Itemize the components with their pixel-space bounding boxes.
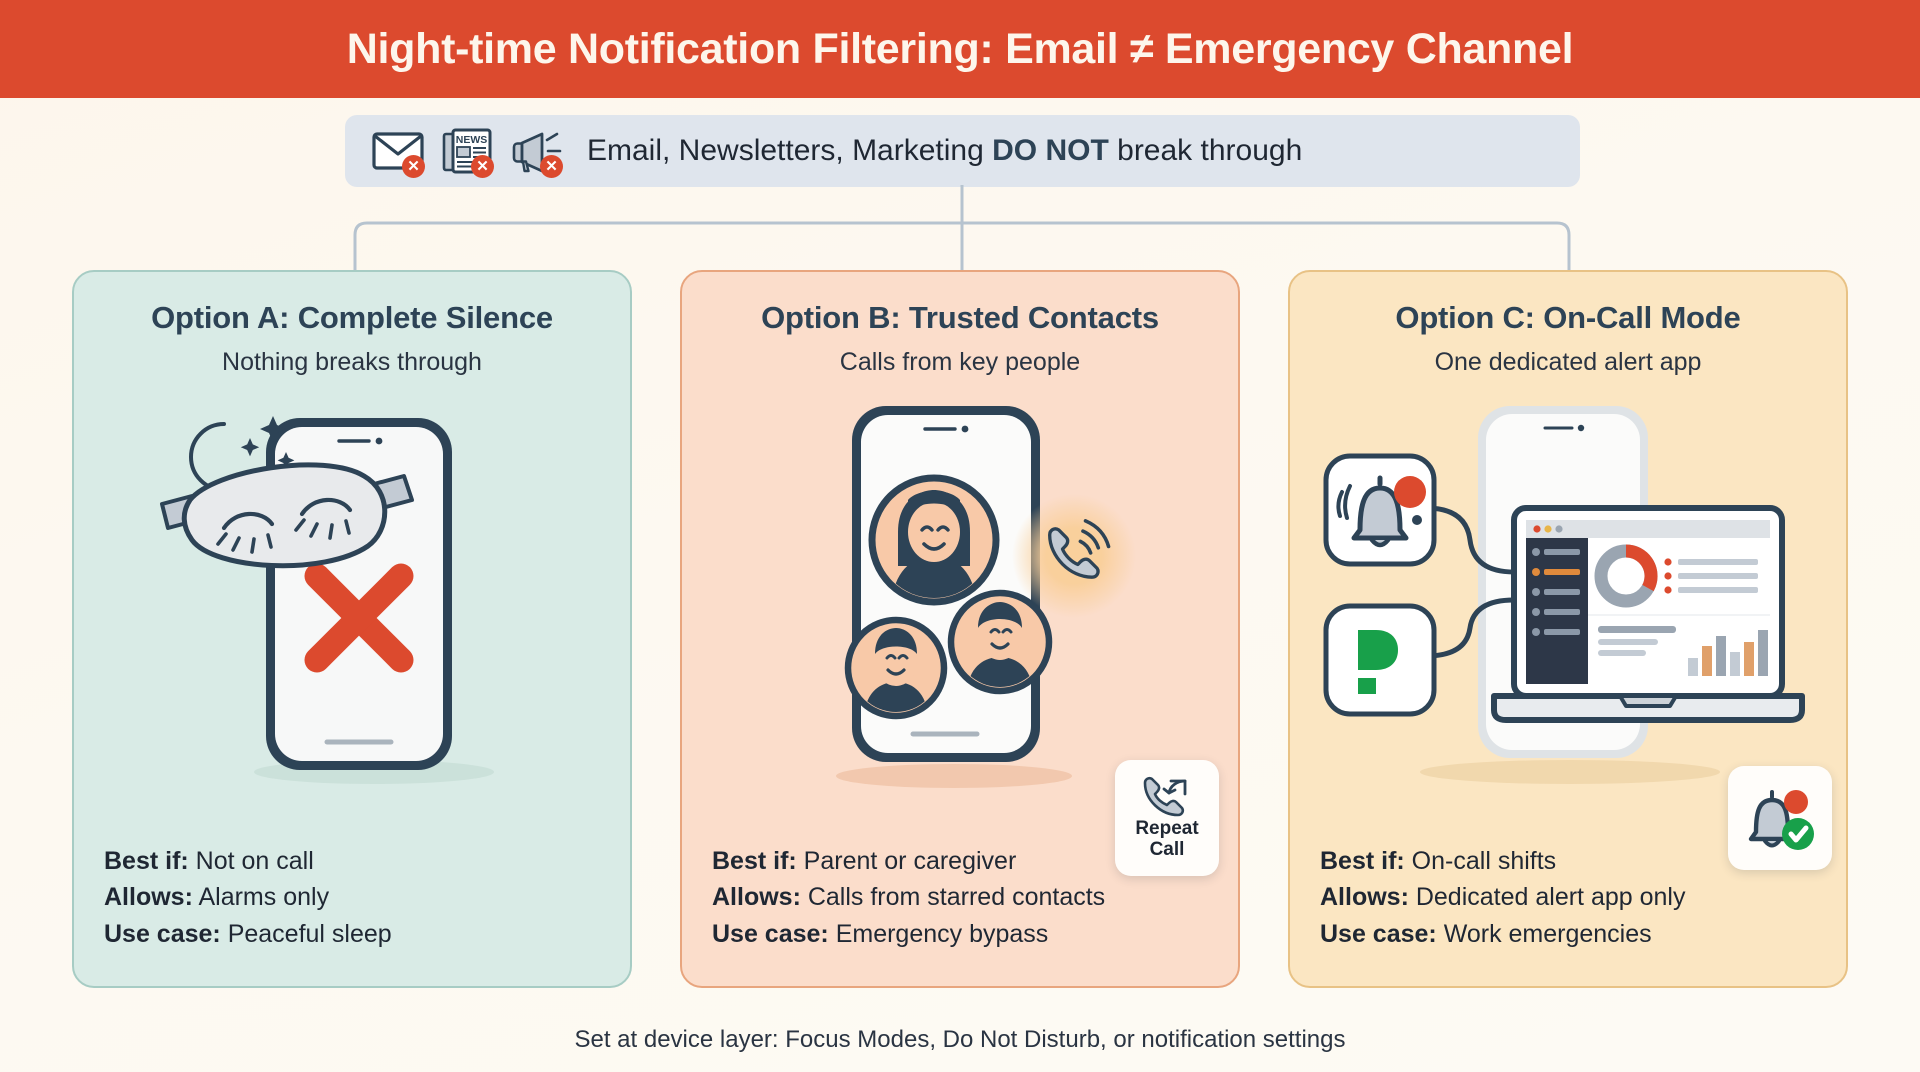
blocked-icon-group: ✕ NEWS ✕: [367, 123, 567, 179]
repeat-call-badge: Repeat Call: [1115, 760, 1219, 876]
option-a-fact-allows: Allows: Alarms only: [104, 879, 600, 916]
blocked-badge-megaphone: ✕: [540, 155, 563, 178]
option-b-fact-use-case-value: Emergency bypass: [829, 920, 1049, 948]
option-c-subtitle: One dedicated alert app: [1316, 348, 1820, 377]
option-a-illustration: [74, 380, 630, 800]
option-c-fact-allows-label: Allows:: [1320, 883, 1409, 911]
blocked-badge-envelope: ✕: [402, 155, 425, 178]
option-b-title: Option B: Trusted Contacts: [708, 300, 1212, 336]
blocked-badge-newspaper: ✕: [471, 155, 494, 178]
connector-lines: [0, 185, 1920, 275]
option-c-fact-best-if-value: On-call shifts: [1405, 847, 1556, 875]
repeat-call-icon: [1141, 776, 1193, 818]
option-card-b[interactable]: Option B: Trusted Contacts Calls from ke…: [680, 270, 1240, 988]
option-a-fact-use-case: Use case: Peaceful sleep: [104, 916, 600, 953]
option-b-fact-use-case-label: Use case:: [712, 920, 829, 948]
blocked-text-after: break through: [1109, 134, 1302, 167]
options-card-row: Option A: Complete Silence Nothing break…: [0, 270, 1920, 990]
blocked-text-emphasis: DO NOT: [992, 134, 1109, 167]
newspaper-icon: NEWS ✕: [436, 123, 498, 179]
option-c-title: Option C: On-Call Mode: [1316, 300, 1820, 336]
option-c-fact-use-case-label: Use case:: [1320, 920, 1437, 948]
header-banner: Night-time Notification Filtering: Email…: [0, 0, 1920, 98]
svg-text:NEWS: NEWS: [456, 134, 488, 146]
option-b-subtitle: Calls from key people: [708, 348, 1212, 377]
megaphone-icon: ✕: [505, 123, 567, 179]
option-a-fact-allows-label: Allows:: [104, 883, 193, 911]
option-c-illustration: [1290, 380, 1846, 800]
alert-app-tile: [1326, 606, 1434, 714]
blocked-channels-banner: ✕ NEWS ✕: [345, 115, 1580, 187]
option-c-fact-best-if-label: Best if:: [1320, 847, 1405, 875]
option-a-fact-best-if-value: Not on call: [189, 847, 314, 875]
option-card-a[interactable]: Option A: Complete Silence Nothing break…: [72, 270, 632, 988]
bell-check-icon: [1742, 782, 1818, 854]
option-b-fact-allows-value: Calls from starred contacts: [801, 883, 1105, 911]
option-a-fact-best-if-label: Best if:: [104, 847, 189, 875]
repeat-call-line-2: Call: [1135, 839, 1198, 860]
option-a-fact-best-if: Best if: Not on call: [104, 843, 600, 880]
blocked-banner-text: Email, Newsletters, Marketing DO NOT bre…: [587, 134, 1302, 168]
option-a-fact-allows-value: Alarms only: [193, 883, 329, 911]
laptop: [1494, 508, 1802, 720]
avatar-boy: [848, 620, 944, 716]
option-b-fact-use-case: Use case: Emergency bypass: [712, 916, 1208, 953]
alert-allowed-badge: [1728, 766, 1832, 870]
option-b-fact-best-if-label: Best if:: [712, 847, 797, 875]
option-a-title: Option A: Complete Silence: [100, 300, 604, 336]
envelope-icon: ✕: [367, 123, 429, 179]
option-c-fact-allows: Allows: Dedicated alert app only: [1320, 879, 1816, 916]
option-a-fact-use-case-label: Use case:: [104, 920, 221, 948]
option-b-fact-best-if-value: Parent or caregiver: [797, 847, 1017, 875]
repeat-call-line-1: Repeat: [1135, 818, 1198, 839]
repeat-call-badge-label: Repeat Call: [1135, 818, 1198, 861]
option-a-subtitle: Nothing breaks through: [100, 348, 604, 377]
option-b-fact-allows: Allows: Calls from starred contacts: [712, 879, 1208, 916]
option-b-fact-allows-label: Allows:: [712, 883, 801, 911]
option-b-illustration: [682, 380, 1238, 800]
option-a-fact-use-case-value: Peaceful sleep: [221, 920, 392, 948]
option-card-c[interactable]: Option C: On-Call Mode One dedicated ale…: [1288, 270, 1848, 988]
option-a-facts: Best if: Not on call Allows: Alarms only…: [104, 843, 600, 953]
option-c-fact-use-case: Use case: Work emergencies: [1320, 916, 1816, 953]
blocked-text-before: Email, Newsletters, Marketing: [587, 134, 992, 167]
avatar-woman: [872, 478, 996, 602]
alert-bell-tile: [1326, 456, 1434, 564]
option-c-fact-use-case-value: Work emergencies: [1437, 920, 1652, 948]
option-c-fact-allows-value: Dedicated alert app only: [1409, 883, 1686, 911]
avatar-man: [951, 593, 1049, 691]
page-title: Night-time Notification Filtering: Email…: [347, 25, 1573, 74]
footer-note: Set at device layer: Focus Modes, Do Not…: [0, 1026, 1920, 1054]
